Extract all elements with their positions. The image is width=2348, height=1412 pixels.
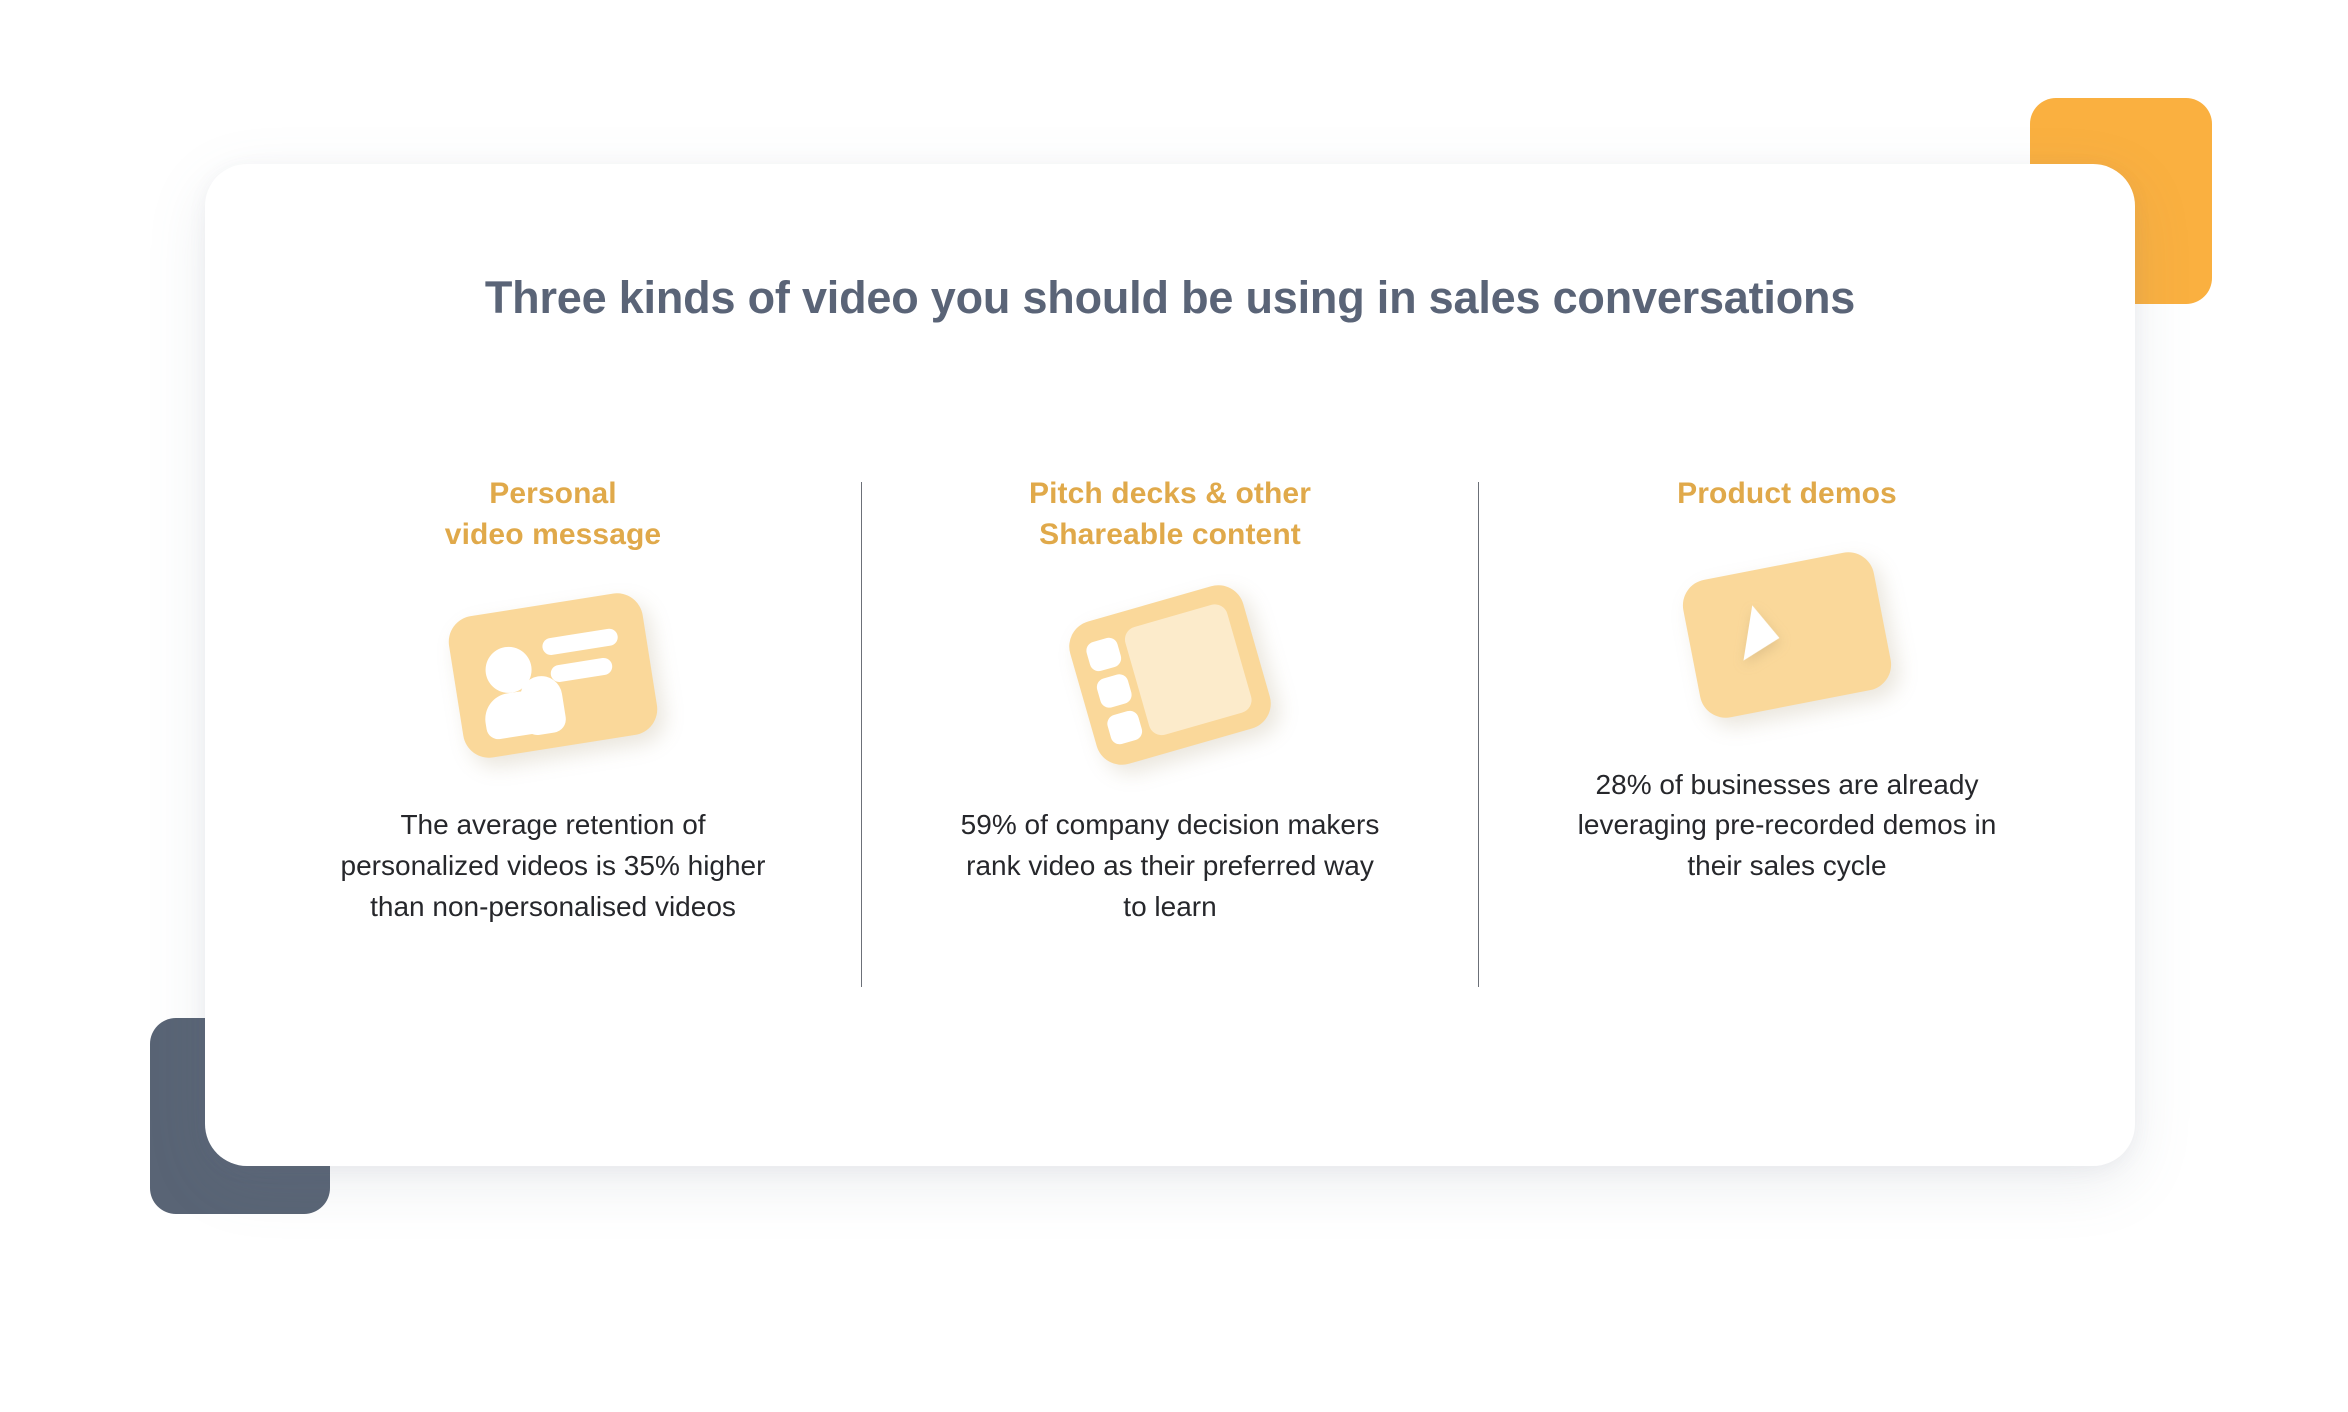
play-triangle-icon [1743, 605, 1783, 665]
slide-thumbnail-icon [1105, 709, 1144, 747]
text-line-icon [541, 627, 619, 656]
column-icon-wrap [245, 555, 861, 795]
infographic-card: Three kinds of video you should be using… [205, 164, 2135, 1166]
text-line-icon [550, 656, 614, 682]
column-body-text: 28% of businesses are already leveraging… [1552, 765, 2022, 888]
columns-container: Personal video message The average reten… [245, 474, 2095, 987]
column-body-text: The average retention of personalized vi… [333, 805, 773, 928]
page-title: Three kinds of video you should be using… [205, 272, 2135, 324]
slide-thumbnail-icon [1084, 636, 1123, 674]
column-heading: Product demos [1677, 474, 1897, 515]
column-heading: Pitch decks & other Shareable content [1029, 474, 1311, 555]
column-body-text: 59% of company decision makers rank vide… [960, 805, 1380, 928]
column-icon-wrap [1479, 515, 2095, 755]
column-pitch-decks-shareable-content: Pitch decks & other Shareable content 59… [862, 474, 1478, 928]
contact-card-icon [445, 589, 661, 761]
person-shoulder-icon [517, 673, 568, 737]
slide-main-panel-icon [1122, 601, 1255, 738]
slide-thumbnail-icon [1095, 672, 1134, 710]
column-heading: Personal video message [445, 474, 661, 555]
column-icon-wrap [862, 555, 1478, 795]
column-product-demos: Product demos 28% of businesses are alre… [1479, 474, 2095, 887]
slide-deck-icon [1063, 579, 1277, 771]
column-personal-video-message: Personal video message The average reten… [245, 474, 861, 928]
video-play-icon [1678, 547, 1895, 721]
